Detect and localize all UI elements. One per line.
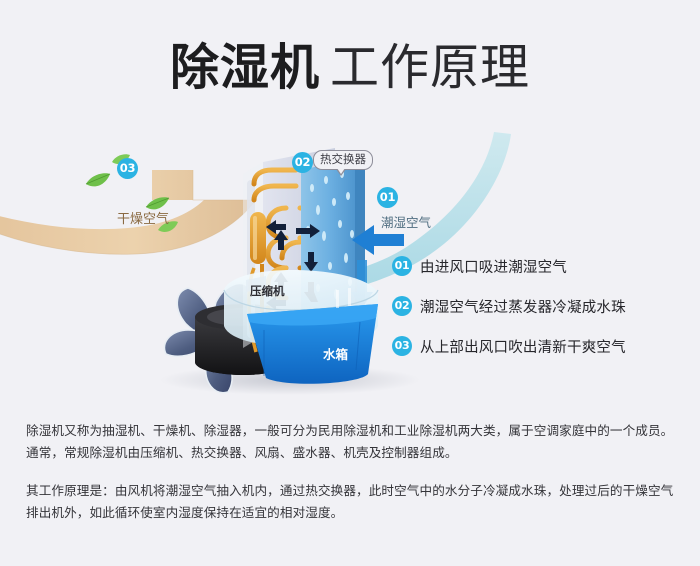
label-humid-air: 潮湿空气 [381, 212, 431, 231]
receiver-tank-icon [250, 212, 266, 264]
dehumidifier-working-principle-infographic: 除湿机工作原理 [0, 0, 700, 566]
paragraph-2-line-1: 其工作原理是：由风机将潮湿空气抽入机内，通过热交换器，此时空气中的水分子冷凝成水… [26, 480, 678, 502]
legend-text-02: 潮湿空气经过蒸发器冷凝成水珠 [420, 296, 626, 317]
water-tank-icon [247, 304, 378, 384]
label-compressor: 压缩机 [250, 283, 285, 299]
body-copy: 除湿机又称为抽湿机、干燥机、除湿器，一般可分为民用除湿机和工业除湿机两大类，属于… [26, 420, 678, 524]
label-water-tank: 水箱 [323, 344, 348, 363]
diagram-badge-03: 03 [117, 158, 138, 179]
legend-item: 02 潮湿空气经过蒸发器冷凝成水珠 [392, 295, 692, 317]
title-secondary: 工作原理 [330, 39, 530, 96]
diagram-badge-02: 02 [292, 152, 313, 173]
page-title: 除湿机工作原理 [0, 28, 700, 99]
label-heat-exchanger: 热交换器 [313, 150, 373, 170]
legend-text-01: 由进风口吸进潮湿空气 [420, 256, 567, 277]
label-dry-air: 干燥空气 [117, 208, 169, 227]
paragraph-2-line-2: 排出机外，如此循环使室内湿度保持在适宜的相对湿度。 [26, 502, 678, 524]
legend-item: 03 从上部出风口吹出清新干爽空气 [392, 335, 692, 357]
legend-badge-01: 01 [392, 256, 412, 276]
title-primary: 除湿机 [170, 39, 320, 96]
diagram-badge-01: 01 [377, 187, 398, 208]
legend-text-03: 从上部出风口吹出清新干爽空气 [420, 336, 626, 357]
paragraph-1-line-1: 除湿机又称为抽湿机、干燥机、除湿器，一般可分为民用除湿机和工业除湿机两大类，属于… [26, 420, 678, 442]
legend-badge-03: 03 [392, 336, 412, 356]
legend-badge-02: 02 [392, 296, 412, 316]
legend-item: 01 由进风口吸进潮湿空气 [392, 255, 692, 277]
paragraph-1-line-2: 通常，常规除湿机由压缩机、热交换器、风扇、盛水器、机壳及控制器组成。 [26, 442, 678, 464]
legend-list: 01 由进风口吸进潮湿空气 02 潮湿空气经过蒸发器冷凝成水珠 03 从上部出风… [392, 255, 692, 375]
